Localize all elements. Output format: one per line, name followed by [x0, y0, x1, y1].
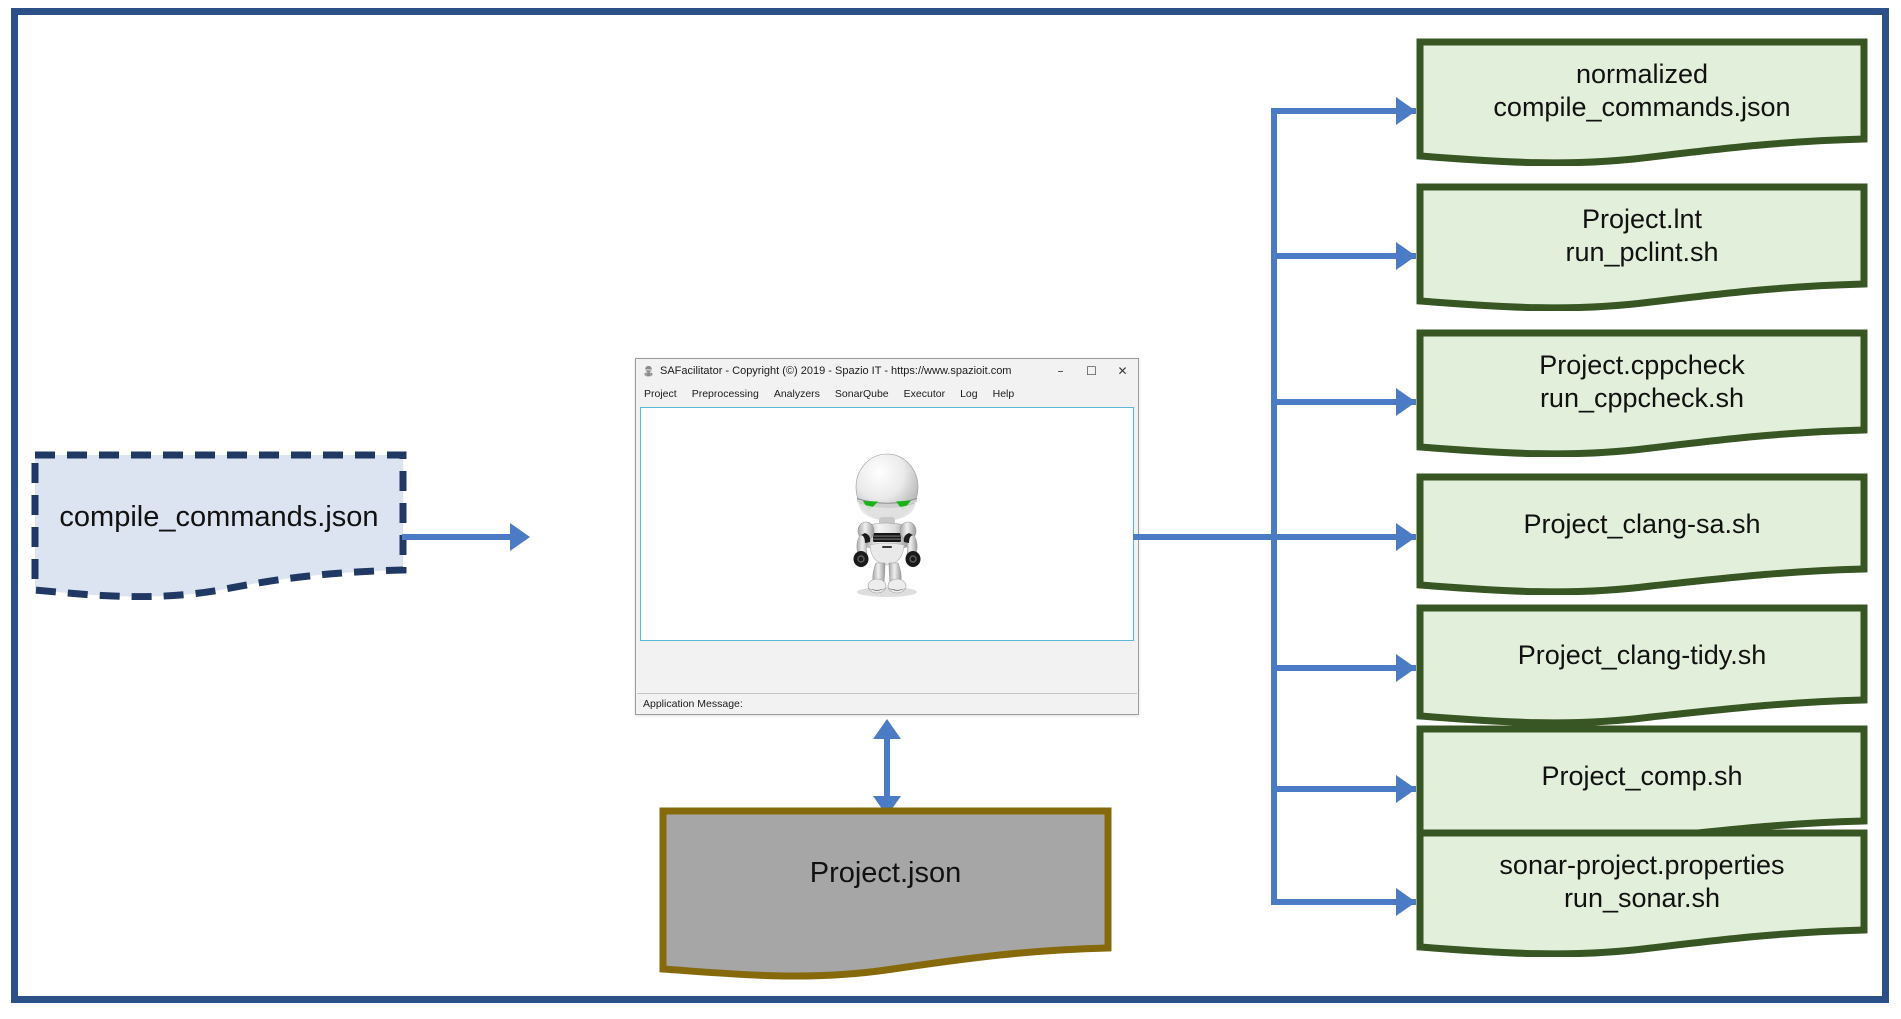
output-document-4: Project_clang-sa.sh: [1416, 473, 1868, 595]
menu-item-project[interactable]: Project: [644, 386, 686, 402]
connector-branch-6: [1271, 786, 1416, 792]
menu-item-preprocessing[interactable]: Preprocessing: [692, 386, 768, 402]
safacilitator-window[interactable]: SAFacilitator - Copyright (©) 2019 - Spa…: [635, 358, 1139, 715]
input-document-compile-commands: compile_commands.json: [30, 450, 408, 600]
connector-branch-5: [1271, 665, 1416, 671]
window-controls[interactable]: – ☐ ✕: [1045, 359, 1138, 383]
config-document-project-json: Project.json: [658, 806, 1113, 981]
minimize-button[interactable]: –: [1045, 359, 1076, 383]
output-document-5: Project_clang-tidy.sh: [1416, 604, 1868, 726]
arrowhead-branch-6: [1396, 775, 1416, 803]
output-document-1: normalized compile_commands.json: [1416, 38, 1868, 166]
arrowhead-branch-3: [1396, 388, 1416, 416]
arrowhead-branch-1: [1396, 97, 1416, 125]
output-document-3: Project.cppcheck run_cppcheck.sh: [1416, 329, 1868, 457]
arrowhead-branch-7: [1396, 888, 1416, 916]
close-button[interactable]: ✕: [1107, 359, 1138, 383]
status-bar: Application Message:: [637, 693, 1137, 713]
diagram-canvas: compile_commands.json SAFacilitator - Co…: [0, 0, 1901, 1019]
arrowhead-branch-4: [1396, 523, 1416, 551]
robot-mascot-icon: [833, 449, 941, 599]
connector-input-to-app: [402, 534, 512, 540]
menu-item-sonarqube[interactable]: SonarQube: [835, 386, 898, 402]
status-message: Application Message:: [643, 698, 743, 710]
connector-branch-7: [1271, 899, 1416, 905]
window-title-bar[interactable]: SAFacilitator - Copyright (©) 2019 - Spa…: [636, 359, 1138, 383]
connector-branch-1: [1271, 108, 1416, 114]
window-title-text: SAFacilitator - Copyright (©) 2019 - Spa…: [660, 365, 1011, 377]
robot-icon: [642, 365, 655, 378]
output-document-2: Project.lnt run_pclint.sh: [1416, 183, 1868, 311]
arrowhead-input-to-app: [510, 523, 530, 551]
connector-app-to-projectjson: [884, 736, 890, 800]
menu-item-analyzers[interactable]: Analyzers: [774, 386, 829, 402]
output-document-7: sonar-project.properties run_sonar.sh: [1416, 829, 1868, 957]
connector-branch-3: [1271, 399, 1416, 405]
menu-item-executor[interactable]: Executor: [904, 386, 954, 402]
connector-branch-4: [1271, 534, 1416, 540]
arrowhead-branch-2: [1396, 242, 1416, 270]
maximize-button[interactable]: ☐: [1076, 359, 1107, 383]
connector-branch-2: [1271, 253, 1416, 259]
arrowhead-branch-5: [1396, 654, 1416, 682]
menu-item-log[interactable]: Log: [960, 386, 987, 402]
menu-item-help[interactable]: Help: [993, 386, 1024, 402]
window-content-area: [640, 407, 1134, 641]
menu-bar[interactable]: Project Preprocessing Analyzers SonarQub…: [636, 383, 1138, 405]
